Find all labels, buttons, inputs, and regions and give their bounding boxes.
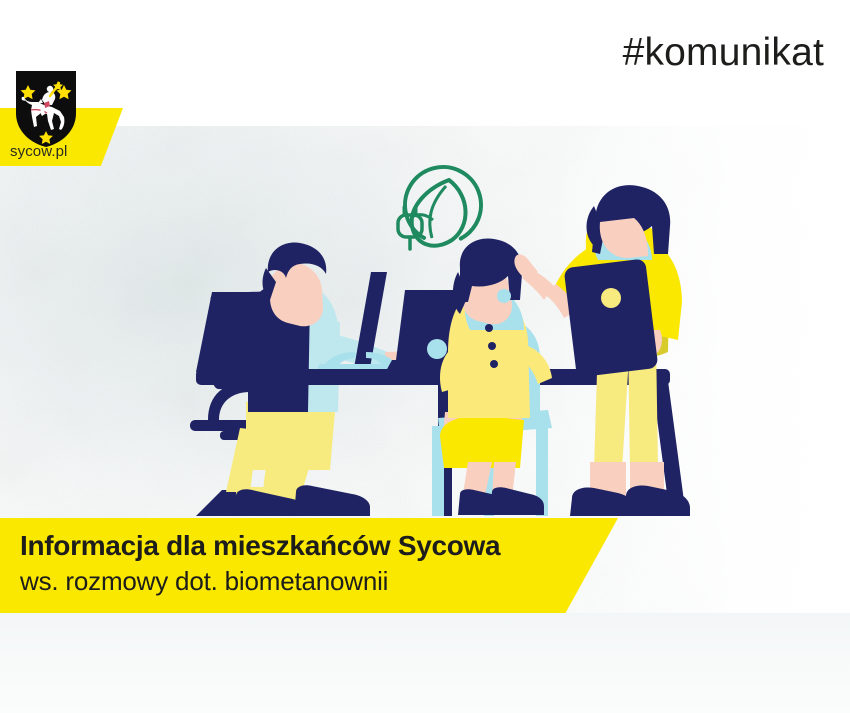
logo-url-text: sycow.pl — [10, 144, 68, 159]
poster-canvas: #komunikat sycow.pl Informacja dla miesz… — [0, 0, 850, 713]
tablet — [564, 258, 659, 377]
hashtag-komunikat: #komunikat — [623, 33, 824, 72]
banner-subtitle: ws. rozmowy dot. biometanownii — [20, 568, 388, 595]
banner-title: Informacja dla mieszkańców Sycowa — [20, 531, 500, 560]
syców-coat-of-arms-crest — [14, 69, 78, 149]
